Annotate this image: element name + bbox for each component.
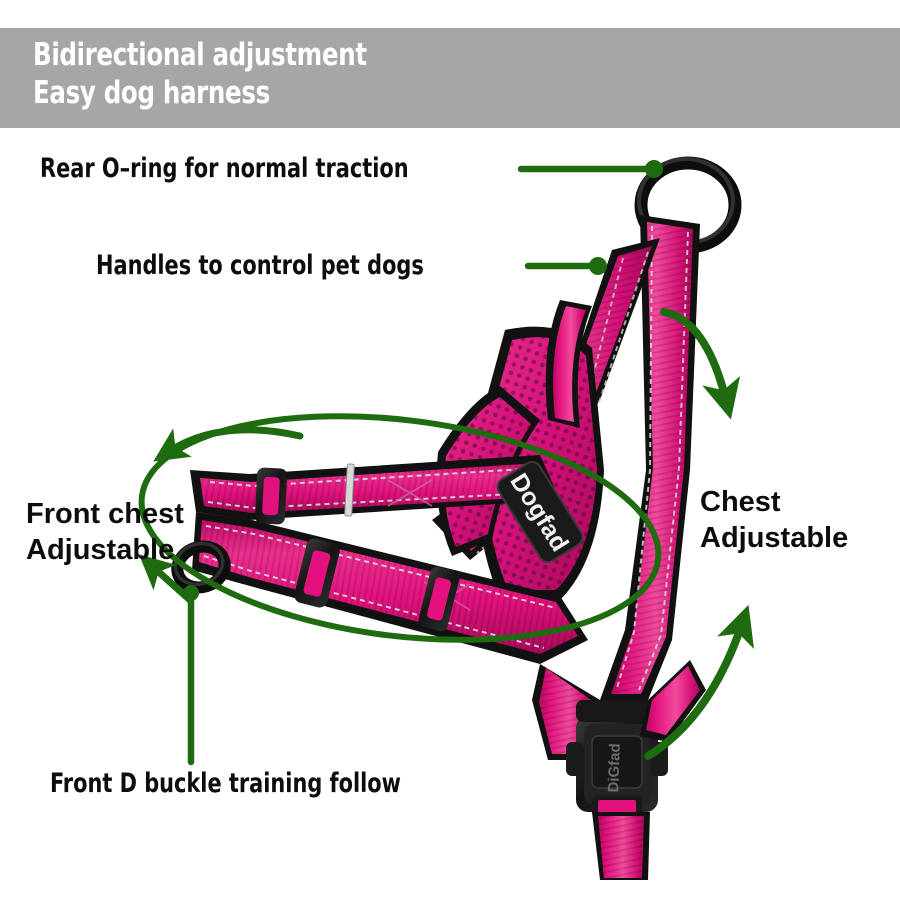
annotation-front-d-buckle: Front D buckle training follow <box>50 768 401 799</box>
buckle-label-text: DiGfad <box>605 743 624 793</box>
lower-tail-strap <box>592 812 650 880</box>
annotation-front-chest-line2: Adjustable <box>26 532 184 568</box>
annotation-front-chest: Front chest Adjustable <box>26 496 184 568</box>
slider-adjuster-upper <box>255 467 288 524</box>
oring-pointer <box>521 160 663 178</box>
annotation-rear-oring: Rear O–ring for normal traction <box>40 153 409 184</box>
front-d-pointer <box>152 566 199 762</box>
annotation-front-chest-line1: Front chest <box>26 496 184 532</box>
annotation-chest-line2: Adjustable <box>700 520 848 556</box>
product-illustration: Dogfad DiGfad <box>0 0 900 900</box>
handles-pointer <box>528 257 607 275</box>
infographic-canvas: Bidirectional adjustment Easy dog harnes… <box>0 0 900 900</box>
annotation-chest-adjustable: Chest Adjustable <box>700 484 848 556</box>
annotation-chest-line1: Chest <box>700 484 848 520</box>
annotation-handles: Handles to control pet dogs <box>96 250 424 281</box>
